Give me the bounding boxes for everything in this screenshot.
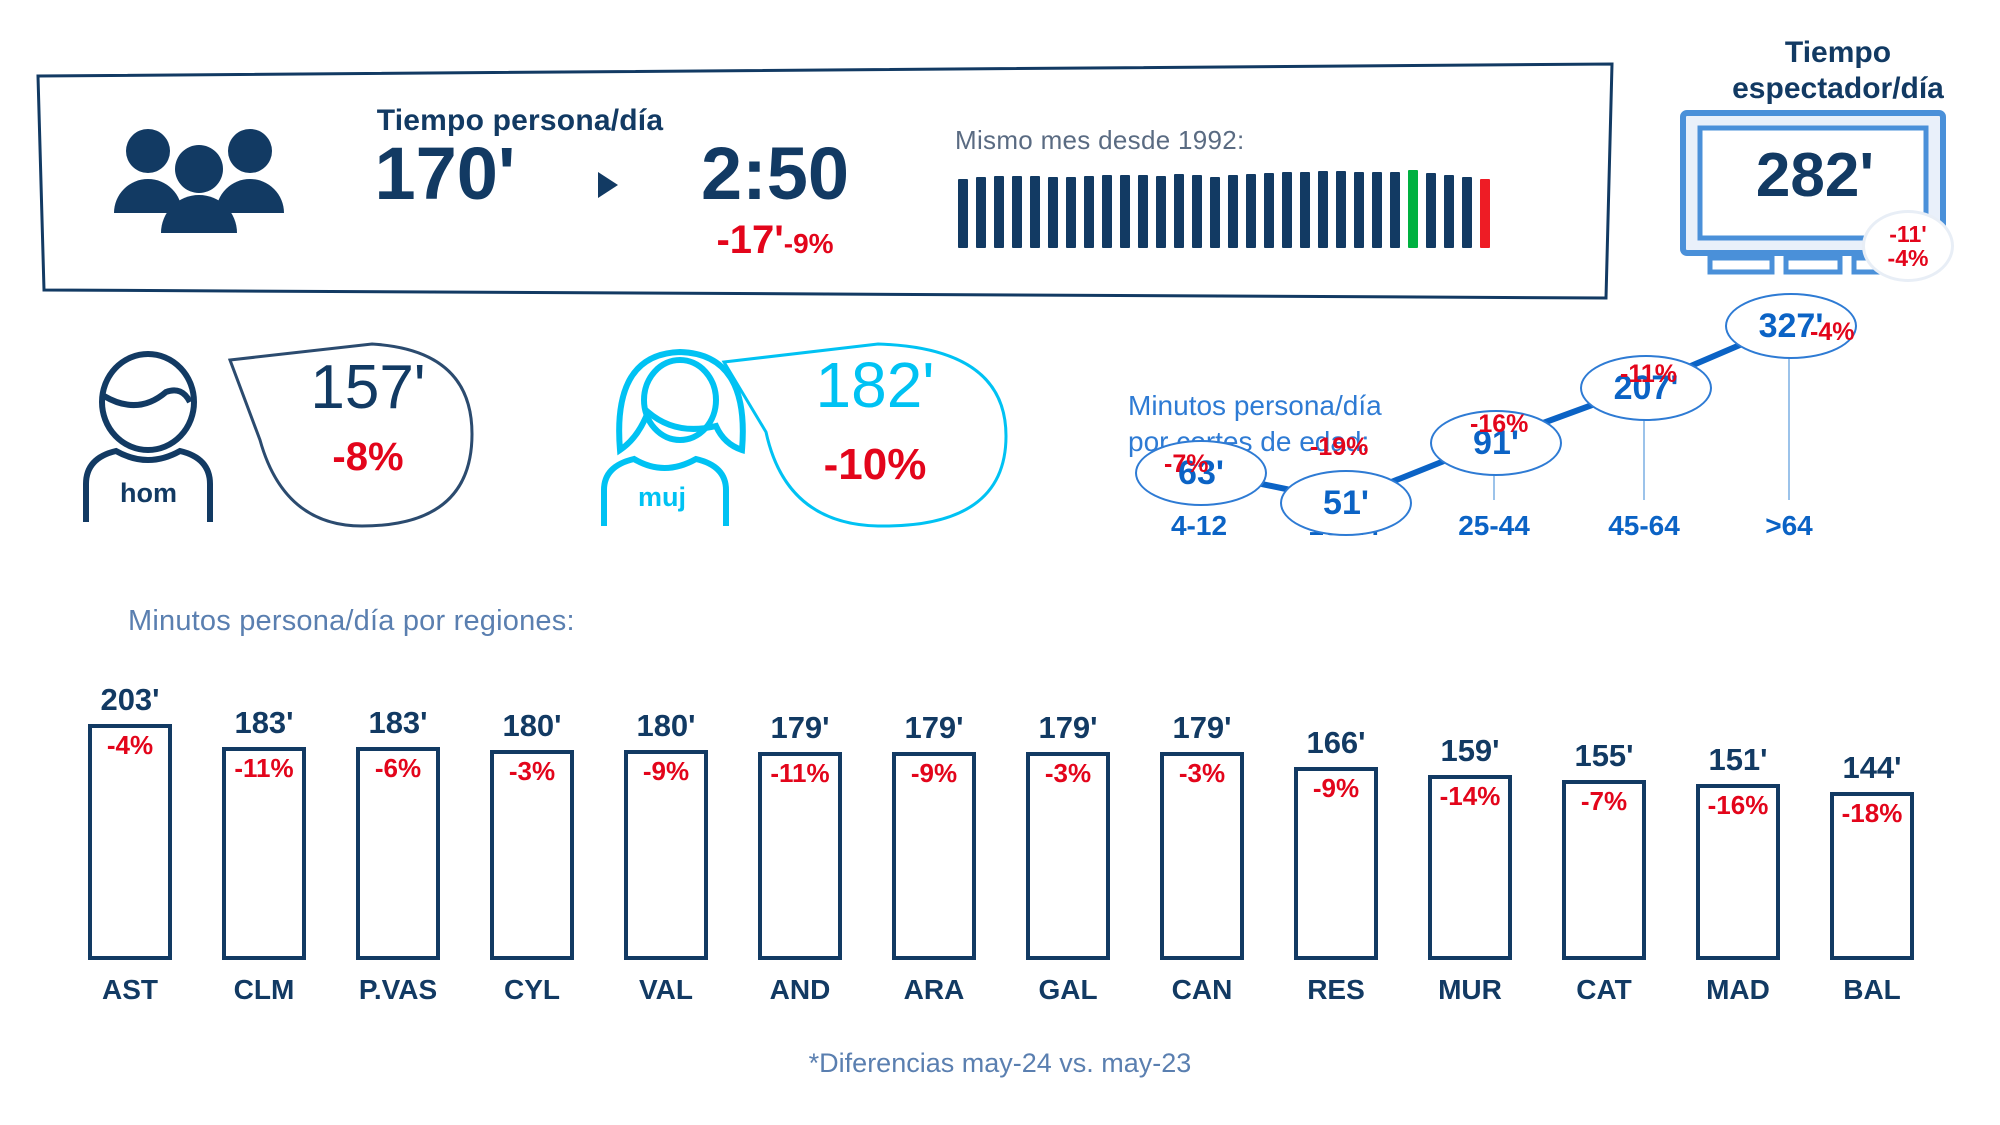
minutes-by-region-chart: 203'-4%AST183'-11%CLM183'-6%P.VAS180'-3%… — [60, 660, 1960, 1060]
mini-bar — [1174, 174, 1184, 248]
mini-bar — [958, 179, 968, 248]
viewer-time-delta-badge: -11' -4% — [1862, 210, 1954, 282]
region-value-MAD: 151' — [1678, 742, 1798, 778]
region-label-CYL: CYL — [472, 974, 592, 1006]
viewer-time-title: Tiempo espectador/día — [1688, 35, 1988, 107]
region-delta-AND: -11% — [740, 758, 860, 789]
male-label: hom — [120, 478, 177, 509]
region-column: 183'-6%P.VAS — [338, 660, 458, 1060]
mini-bar — [1102, 175, 1112, 248]
region-label-CLM: CLM — [204, 974, 324, 1006]
age-delta-25-44: -16% — [1470, 410, 1528, 439]
person-time-clock: 2:50 — [660, 135, 890, 213]
region-delta-MUR: -14% — [1410, 781, 1530, 812]
regions-chart-title: Minutos persona/día por regiones: — [128, 605, 575, 638]
mini-bar — [1210, 177, 1220, 248]
region-column: 144'-18%BAL — [1812, 660, 1932, 1060]
region-delta-P.VAS: -6% — [338, 753, 458, 784]
mini-bar — [1336, 171, 1346, 248]
mini-bar — [1426, 173, 1436, 248]
region-delta-BAL: -18% — [1812, 798, 1932, 829]
viewer-time-value: 282' — [1700, 140, 1930, 211]
region-column: 183'-11%CLM — [204, 660, 324, 1060]
viewer-delta-minutes: -11' — [1889, 222, 1926, 246]
mini-bar — [1462, 177, 1472, 248]
mini-bar — [1390, 172, 1400, 248]
region-label-AST: AST — [70, 974, 190, 1006]
region-delta-CYL: -3% — [472, 756, 592, 787]
female-value: 182' — [770, 348, 980, 422]
region-label-CAT: CAT — [1544, 974, 1664, 1006]
minutes-by-age-chart: 63'4-1251'13-2491'25-44207'45-64327'>64-… — [1020, 330, 2000, 650]
mini-bar — [1066, 177, 1076, 248]
age-node-13-24[interactable]: 51' — [1280, 470, 1412, 536]
mini-bar — [1264, 173, 1274, 248]
region-label-ARA: ARA — [874, 974, 994, 1006]
region-label-AND: AND — [740, 974, 860, 1006]
mini-bar — [1012, 176, 1022, 248]
region-column: 180'-9%VAL — [606, 660, 726, 1060]
region-value-GAL: 179' — [1008, 710, 1128, 746]
region-value-RES: 166' — [1276, 725, 1396, 761]
region-label-CAN: CAN — [1142, 974, 1262, 1006]
mini-bar — [1138, 175, 1148, 248]
region-column: 180'-3%CYL — [472, 660, 592, 1060]
age-delta-13-24: -19% — [1310, 433, 1368, 462]
viewer-delta-pct: -4% — [1888, 246, 1929, 270]
region-column: 179'-11%AND — [740, 660, 860, 1060]
mini-bar — [1444, 175, 1454, 248]
region-value-VAL: 180' — [606, 708, 726, 744]
region-column: 179'-9%ARA — [874, 660, 994, 1060]
region-delta-GAL: -3% — [1008, 758, 1128, 789]
mini-bar — [1318, 171, 1328, 248]
region-value-ARA: 179' — [874, 710, 994, 746]
age-delta-4-12: -7% — [1164, 450, 1208, 479]
region-label-MUR: MUR — [1410, 974, 1530, 1006]
region-value-CAN: 179' — [1142, 710, 1262, 746]
male-value: 157' — [268, 352, 468, 423]
age-delta->64: -4% — [1810, 318, 1854, 347]
region-value-MUR: 159' — [1410, 733, 1530, 769]
mini-bar — [1246, 174, 1256, 248]
region-value-CLM: 183' — [204, 705, 324, 741]
same-month-since-1992-chart — [958, 170, 1578, 248]
region-column: 203'-4%AST — [70, 660, 190, 1060]
region-delta-CLM: -11% — [204, 753, 324, 784]
mini-bar — [976, 177, 986, 248]
region-column: 179'-3%CAN — [1142, 660, 1262, 1060]
region-label-P.VAS: P.VAS — [338, 974, 458, 1006]
mini-bar — [1282, 172, 1292, 248]
person-time-delta-minutes: -17' — [716, 218, 783, 262]
region-label-BAL: BAL — [1812, 974, 1932, 1006]
mini-bar — [1372, 172, 1382, 248]
region-column: 159'-14%MUR — [1410, 660, 1530, 1060]
mini-bar — [1156, 176, 1166, 248]
region-column: 179'-3%GAL — [1008, 660, 1128, 1060]
region-label-RES: RES — [1276, 974, 1396, 1006]
region-value-AND: 179' — [740, 710, 860, 746]
region-label-VAL: VAL — [606, 974, 726, 1006]
mini-bar — [1408, 170, 1418, 248]
female-delta: -10% — [770, 440, 980, 490]
triangle-right-icon — [598, 172, 618, 198]
mini-bar — [1084, 176, 1094, 248]
mini-bar — [994, 176, 1004, 248]
region-delta-CAN: -3% — [1142, 758, 1262, 789]
mini-bar — [1228, 175, 1238, 248]
mini-bar — [1300, 172, 1310, 248]
female-label: muj — [638, 482, 686, 513]
person-time-value: 170' — [330, 135, 560, 213]
male-delta: -8% — [268, 435, 468, 480]
region-column: 155'-7%CAT — [1544, 660, 1664, 1060]
region-label-GAL: GAL — [1008, 974, 1128, 1006]
region-delta-ARA: -9% — [874, 758, 994, 789]
region-column: 151'-16%MAD — [1678, 660, 1798, 1060]
person-time-delta-pct: -9% — [784, 228, 834, 259]
mini-chart-title: Mismo mes desde 1992: — [955, 125, 1245, 156]
mini-bar — [1354, 172, 1364, 248]
mini-bar — [1048, 177, 1058, 248]
people-group-icon — [110, 125, 290, 235]
mini-bar — [1480, 179, 1490, 248]
mini-bar — [1192, 175, 1202, 248]
region-value-BAL: 144' — [1812, 750, 1932, 786]
region-value-CYL: 180' — [472, 708, 592, 744]
region-value-P.VAS: 183' — [338, 705, 458, 741]
mini-bar — [1030, 176, 1040, 248]
region-delta-MAD: -16% — [1678, 790, 1798, 821]
region-value-AST: 203' — [70, 682, 190, 718]
age-delta-45-64: -11% — [1620, 360, 1677, 389]
footnote: *Diferencias may-24 vs. may-23 — [0, 1048, 2000, 1079]
region-column: 166'-9%RES — [1276, 660, 1396, 1060]
region-label-MAD: MAD — [1678, 974, 1798, 1006]
region-delta-AST: -4% — [70, 730, 190, 761]
mini-bar — [1120, 175, 1130, 248]
region-delta-CAT: -7% — [1544, 786, 1664, 817]
person-time-delta: -17'-9% — [660, 218, 890, 263]
region-delta-VAL: -9% — [606, 756, 726, 787]
region-value-CAT: 155' — [1544, 738, 1664, 774]
region-delta-RES: -9% — [1276, 773, 1396, 804]
